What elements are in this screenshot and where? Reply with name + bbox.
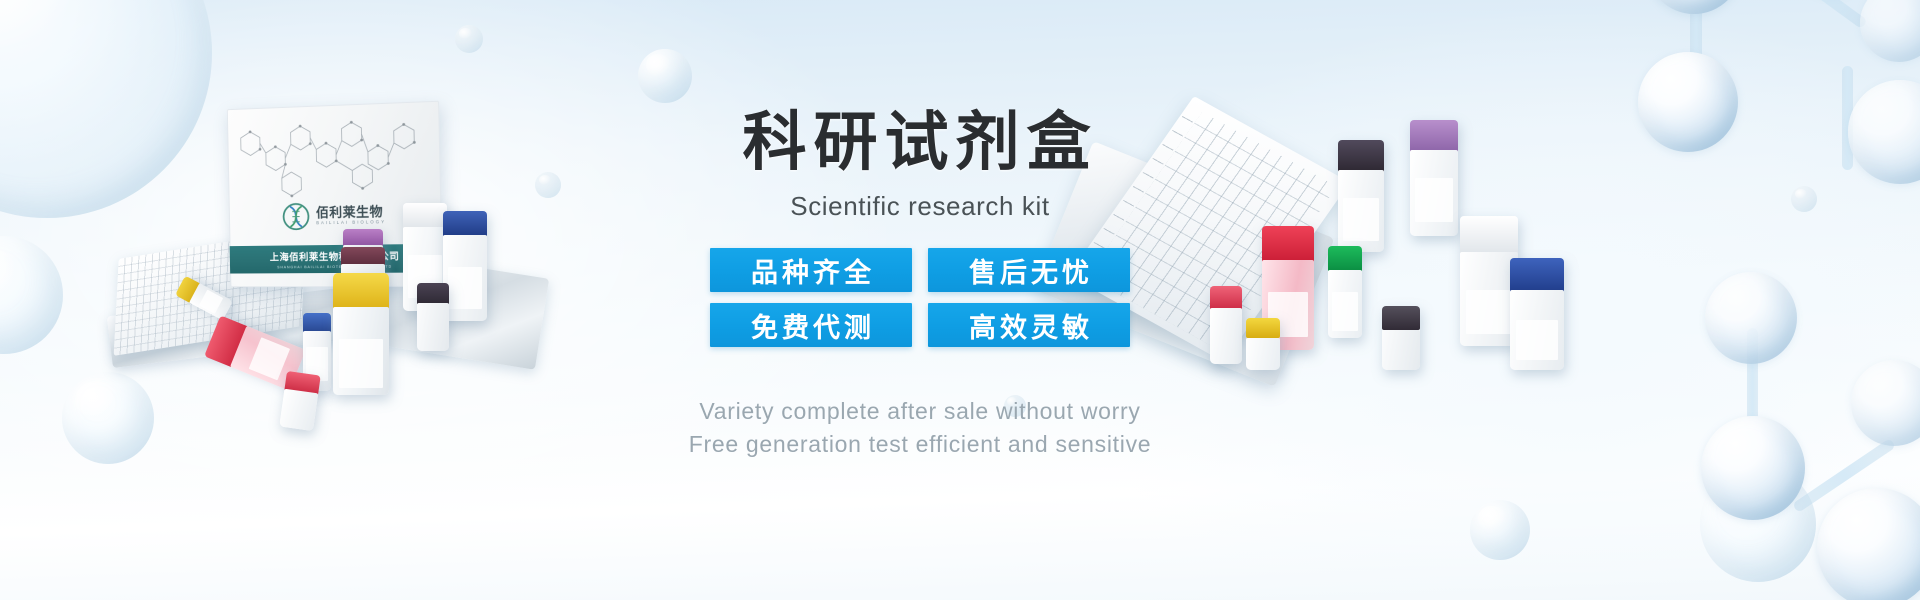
vial-blue-cap bbox=[1510, 258, 1564, 370]
molecule-sphere-bond-icon bbox=[1610, 0, 1920, 290]
tagline-line-1: Variety complete after sale without worr… bbox=[560, 395, 1280, 428]
vial-yellow-cap bbox=[333, 273, 389, 395]
molecule-sphere-bond-icon bbox=[1655, 320, 1920, 600]
vial-lavender-cap bbox=[1410, 120, 1458, 236]
product-photo-left: 佰利莱生物 BAILILAI BIOLOGY 上海佰利莱生物科技有限公司 SHA… bbox=[105, 95, 555, 395]
banner-root: 佰利莱生物 BAILILAI BIOLOGY 上海佰利莱生物科技有限公司 SHA… bbox=[0, 0, 1920, 600]
water-bubble-icon bbox=[455, 25, 483, 53]
feature-badge-after-sale[interactable]: 售后无忧 bbox=[928, 248, 1130, 292]
vial-charcoal-cap bbox=[1382, 306, 1420, 370]
feature-badge-variety[interactable]: 品种齐全 bbox=[710, 248, 912, 292]
tagline-line-2: Free generation test efficient and sensi… bbox=[560, 428, 1280, 461]
tagline-block: Variety complete after sale without worr… bbox=[560, 395, 1280, 460]
kit-box-brand-cn: 佰利莱生物 bbox=[316, 205, 386, 219]
page-title: 科研试剂盒 bbox=[560, 108, 1280, 177]
feature-badge-sensitive[interactable]: 高效灵敏 bbox=[928, 303, 1130, 347]
hexagon-molecule-pattern-icon bbox=[227, 105, 441, 209]
kit-box-brand-en: BAILILAI BIOLOGY bbox=[316, 220, 386, 226]
vial-dark-cap bbox=[1338, 140, 1384, 252]
feature-badge-list: 品种齐全 售后无忧 免费代测 高效灵敏 bbox=[710, 248, 1130, 347]
vial-green-cap bbox=[1328, 246, 1362, 338]
water-bubble-icon bbox=[1700, 466, 1816, 582]
vial-blue-cap bbox=[443, 211, 487, 321]
feature-badge-free-test[interactable]: 免费代测 bbox=[710, 303, 912, 347]
dna-helix-icon bbox=[281, 201, 311, 231]
vial-pink-cap bbox=[279, 371, 320, 431]
water-bubble-icon bbox=[1791, 186, 1817, 212]
page-subtitle: Scientific research kit bbox=[560, 191, 1280, 222]
kit-box-logo: 佰利莱生物 BAILILAI BIOLOGY bbox=[281, 200, 387, 232]
vial-dark-cap bbox=[417, 283, 449, 351]
banner-copy: 科研试剂盒 Scientific research kit 品种齐全 售后无忧 … bbox=[560, 108, 1280, 460]
water-bubble-icon bbox=[0, 236, 63, 354]
water-bubble-icon bbox=[638, 49, 692, 103]
water-bubble-icon bbox=[1470, 500, 1530, 560]
